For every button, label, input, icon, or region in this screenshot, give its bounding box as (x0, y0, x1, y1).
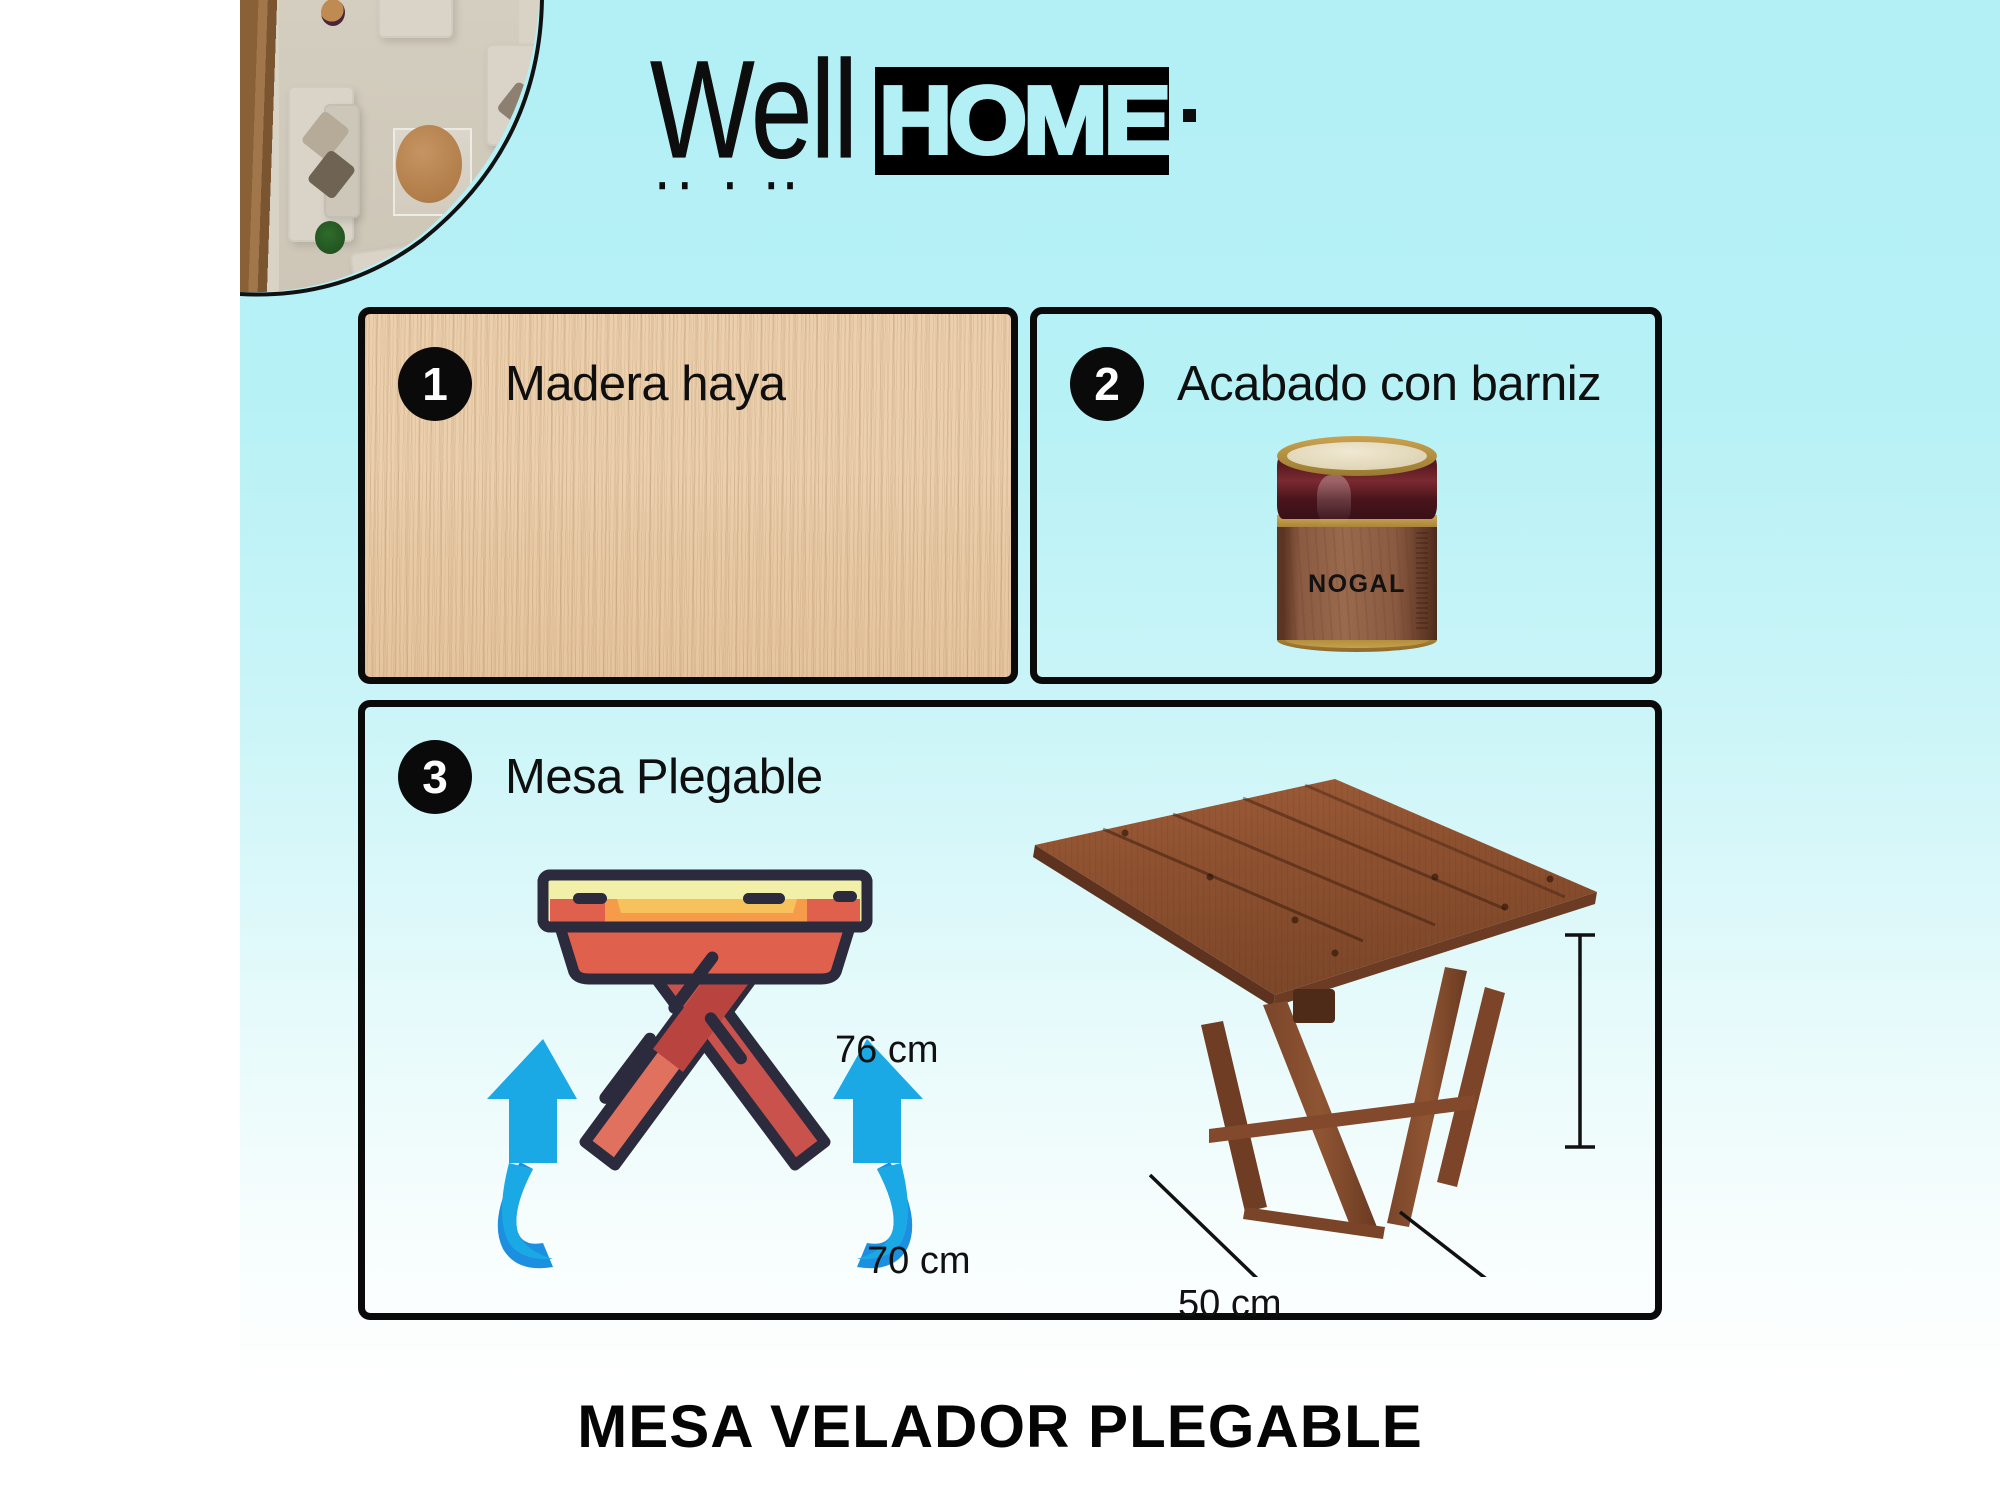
table-legs (1201, 967, 1505, 1239)
badge-2-label: 2 (1094, 361, 1120, 407)
dimension-height-label: 76 cm (835, 1029, 938, 1072)
can-body: NOGAL (1277, 524, 1437, 640)
can-label-text: NOGAL (1277, 570, 1437, 599)
badge-number-3: 3 (398, 740, 472, 814)
logo-dots-decoration (654, 182, 823, 194)
logo-dot-icon (1183, 109, 1196, 122)
infographic-canvas: Well HOME 1 Madera haya 2 Acabado con ba… (0, 0, 2000, 1500)
card-2-title: Acabado con barniz (1177, 356, 1601, 412)
logo-well-text: Well (650, 47, 856, 175)
sofa-top (378, 0, 453, 38)
arrow-left-icon (487, 1039, 577, 1268)
dimension-width-label: 50 cm (1178, 1283, 1281, 1326)
varnish-can-image: NOGAL (1273, 436, 1441, 654)
folding-table-photo (1005, 757, 1625, 1277)
dimension-depth-label: 70 cm (867, 1240, 970, 1283)
table-top (1033, 779, 1597, 1007)
arrow-right-icon (833, 1039, 923, 1268)
potted-plant (315, 221, 345, 254)
decor-bowl (321, 0, 345, 26)
badge-number-2: 2 (1070, 347, 1144, 421)
badge-3-label: 3 (422, 754, 448, 800)
badge-1-label: 1 (422, 361, 448, 407)
brand-logo: Well HOME (650, 55, 1196, 175)
card-1-title: Madera haya (505, 356, 786, 412)
card-madera-haya: 1 Madera haya (358, 307, 1018, 684)
card-acabado-barniz: 2 Acabado con barniz NOGAL (1030, 307, 1662, 684)
card-mesa-plegable: 3 Mesa Plegable (358, 700, 1662, 1320)
can-gloss (1317, 475, 1351, 527)
wood-serving-board (396, 125, 462, 203)
product-title: MESA VELADOR PLEGABLE (0, 1392, 2000, 1461)
can-lid-inner (1287, 442, 1427, 470)
card-3-title: Mesa Plegable (505, 749, 823, 805)
logo-home-block: HOME (875, 67, 1169, 175)
badge-number-1: 1 (398, 347, 472, 421)
logo-home-text: HOME (879, 73, 1167, 169)
